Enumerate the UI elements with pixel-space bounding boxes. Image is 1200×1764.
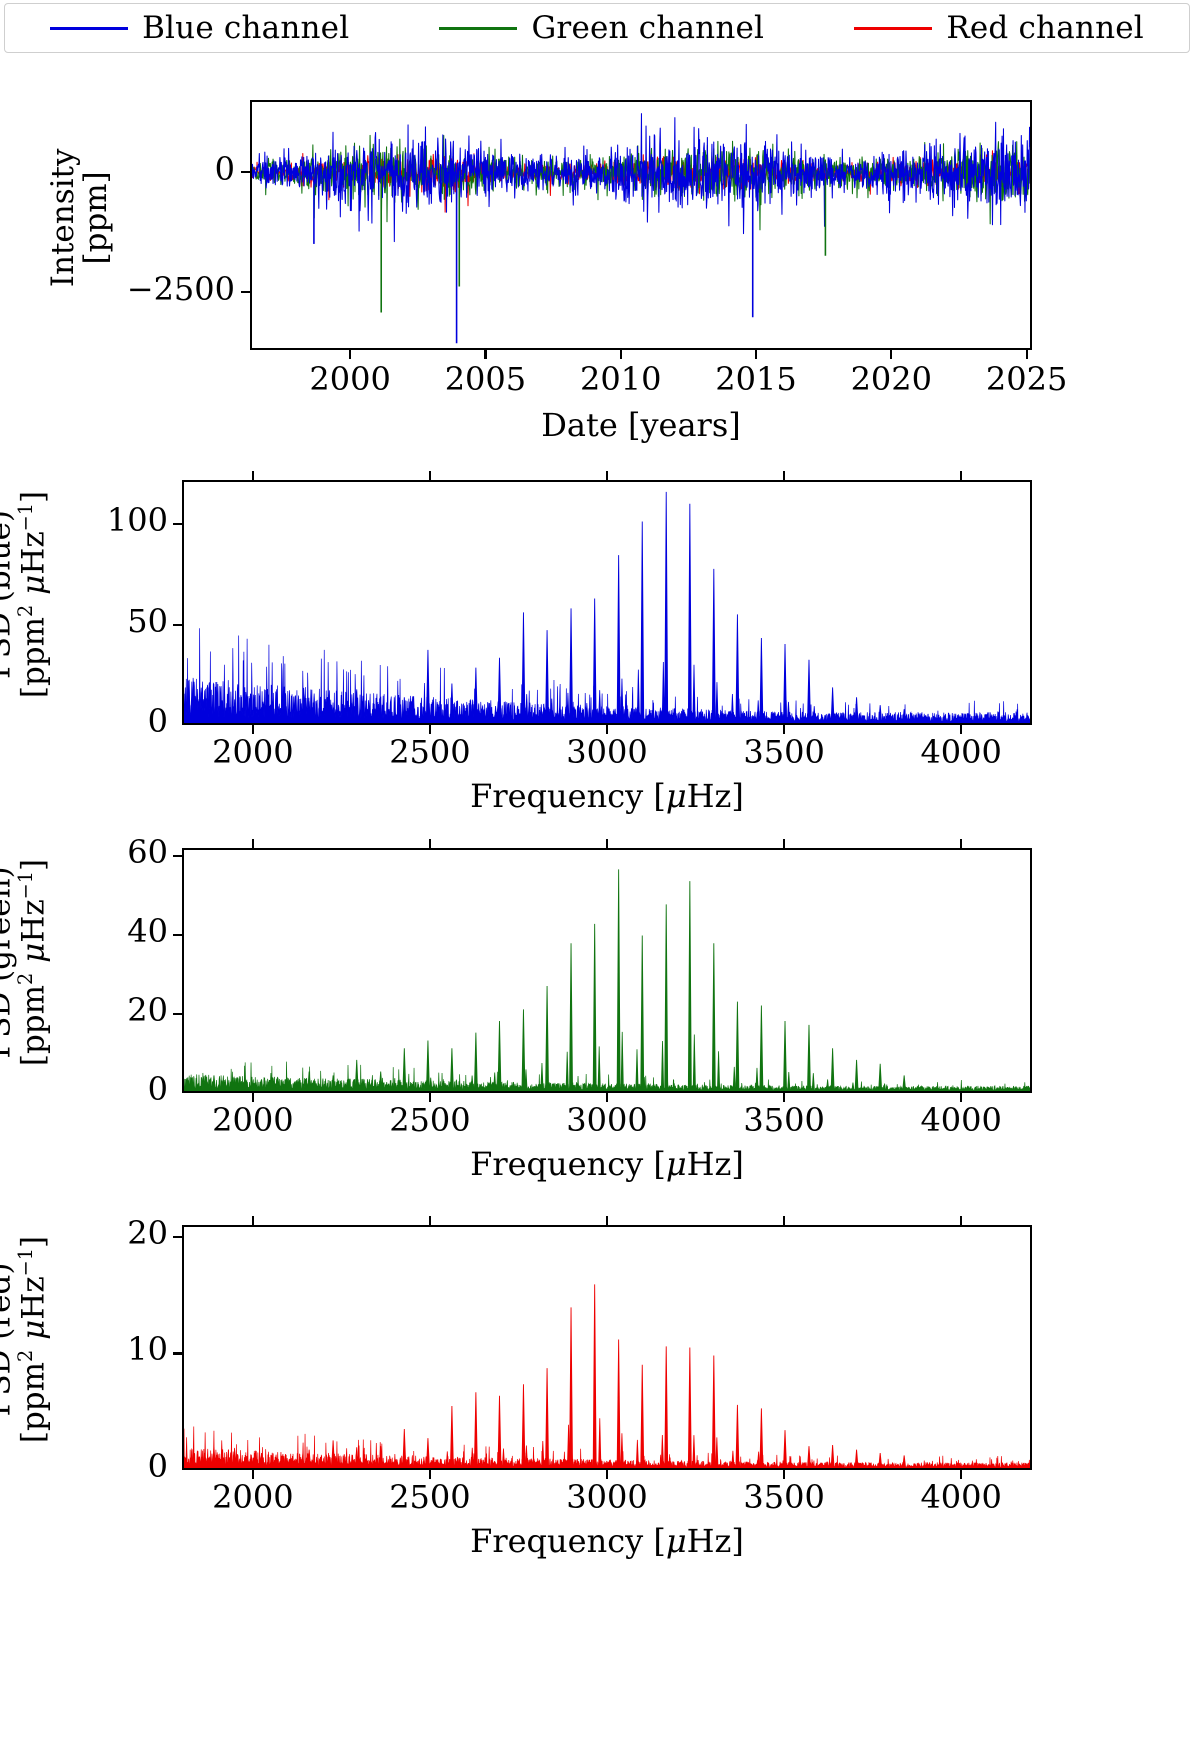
psd_green-x-tick-top	[606, 839, 608, 848]
psd-red-canvas	[184, 1227, 1030, 1468]
psd_green-x-tick-top	[783, 839, 785, 848]
psd_green-x-tick-label: 4000	[891, 1101, 1031, 1139]
psd-green-plot-area	[182, 848, 1032, 1093]
legend-label-green: Green channel	[531, 10, 764, 46]
figure-canvas: Blue channel Green channel Red channel I…	[0, 0, 1200, 1764]
timeseries-x-axis-label: Date [years]	[250, 406, 1032, 444]
psd_blue-x-tick-label: 4000	[891, 733, 1031, 771]
timeseries-x-tick	[349, 350, 351, 359]
timeseries-x-tick-label: 2010	[561, 360, 681, 398]
legend-item-red: Red channel	[854, 10, 1144, 46]
psd_blue-x-tick-top	[606, 471, 608, 480]
psd-blue-canvas	[184, 482, 1030, 723]
timeseries-x-tick-label: 2020	[831, 360, 951, 398]
psd_green-y-tick	[173, 1013, 182, 1015]
timeseries-y-tick	[241, 291, 250, 293]
psd-blue-plot-area	[182, 480, 1032, 725]
timeseries-x-tick-label: 2005	[425, 360, 545, 398]
psd_blue-x-tick-label: 3500	[714, 733, 854, 771]
timeseries-x-tick	[755, 350, 757, 359]
legend-label-red: Red channel	[946, 10, 1144, 46]
timeseries-plot-area	[250, 100, 1032, 350]
psd_green-x-tick-label: 3000	[537, 1101, 677, 1139]
legend: Blue channel Green channel Red channel	[4, 3, 1190, 53]
timeseries-y-axis-label: Intensity [ppm]	[47, 58, 113, 378]
legend-line-green-icon	[439, 27, 517, 30]
psd_green-y-tick-label: 40	[0, 912, 168, 950]
psd_blue-y-tick	[173, 624, 182, 626]
psd_blue-y-tick-label: 50	[0, 602, 168, 640]
psd_blue-x-tick-top	[429, 471, 431, 480]
psd_green-y-tick-label: 0	[0, 1070, 168, 1108]
psd_green-y-tick-label: 20	[0, 991, 168, 1029]
psd-red-plot-area	[182, 1225, 1032, 1470]
timeseries-y-tick-label: 0	[35, 150, 235, 188]
psd-blue-x-axis-label: Frequency [μHz]	[182, 777, 1032, 815]
timeseries-canvas	[252, 102, 1030, 348]
panel-psd-green: PSD (green) [ppm2 μHz−1] Frequency [μHz]…	[0, 820, 1200, 1190]
psd_green-y-tick	[173, 855, 182, 857]
psd_green-x-tick-label: 2000	[183, 1101, 323, 1139]
psd_red-x-tick-top	[783, 1216, 785, 1225]
psd_red-y-tick-label: 10	[0, 1330, 168, 1368]
panel-psd-blue: PSD (blue) [ppm2 μHz−1] Frequency [μHz] …	[0, 440, 1200, 810]
psd_blue-y-tick-label: 100	[0, 501, 168, 539]
psd_blue-x-tick-top	[252, 471, 254, 480]
psd_red-x-tick-top	[606, 1216, 608, 1225]
legend-item-blue: Blue channel	[50, 10, 349, 46]
psd_blue-x-tick-label: 2500	[360, 733, 500, 771]
timeseries-y-tick-label: −2500	[35, 270, 235, 308]
psd_green-x-tick-label: 2500	[360, 1101, 500, 1139]
psd_red-x-tick-label: 3000	[537, 1478, 677, 1516]
timeseries-y-tick	[241, 171, 250, 173]
psd_blue-x-tick-label: 2000	[183, 733, 323, 771]
psd_red-y-tick-label: 0	[0, 1447, 168, 1485]
psd_green-y-tick-label: 60	[0, 833, 168, 871]
psd_green-x-tick-top	[429, 839, 431, 848]
psd_blue-x-tick-top	[960, 471, 962, 480]
psd_red-y-tick	[173, 1352, 182, 1354]
psd_red-x-tick-label: 4000	[891, 1478, 1031, 1516]
legend-line-red-icon	[854, 27, 932, 30]
timeseries-x-tick-label: 2000	[290, 360, 410, 398]
timeseries-x-tick	[1026, 350, 1028, 359]
psd_blue-y-tick	[173, 523, 182, 525]
timeseries-x-tick	[484, 350, 486, 359]
psd_red-x-tick-label: 3500	[714, 1478, 854, 1516]
legend-line-blue-icon	[50, 27, 128, 30]
psd_green-y-tick	[173, 934, 182, 936]
psd_red-x-tick-top	[252, 1216, 254, 1225]
psd_blue-x-tick-label: 3000	[537, 733, 677, 771]
psd_red-y-tick-label: 20	[0, 1214, 168, 1252]
panel-timeseries: Intensity [ppm] Date [years] 20002005201…	[0, 60, 1200, 430]
timeseries-x-tick	[620, 350, 622, 359]
psd_green-x-tick-top	[252, 839, 254, 848]
timeseries-x-tick	[890, 350, 892, 359]
psd-green-canvas	[184, 850, 1030, 1091]
legend-item-green: Green channel	[439, 10, 764, 46]
psd_blue-x-tick-top	[783, 471, 785, 480]
timeseries-x-tick-label: 2015	[696, 360, 816, 398]
psd_red-y-tick	[173, 1236, 182, 1238]
psd_red-x-tick-top	[960, 1216, 962, 1225]
psd_red-x-tick-label: 2500	[360, 1478, 500, 1516]
panel-psd-red: PSD (red) [ppm2 μHz−1] Frequency [μHz] 2…	[0, 1190, 1200, 1564]
psd_green-x-tick-top	[960, 839, 962, 848]
psd-red-x-axis-label: Frequency [μHz]	[182, 1522, 1032, 1560]
psd-green-x-axis-label: Frequency [μHz]	[182, 1145, 1032, 1183]
psd_red-x-tick-label: 2000	[183, 1478, 323, 1516]
timeseries-x-tick-label: 2025	[967, 360, 1087, 398]
psd_green-x-tick-label: 3500	[714, 1101, 854, 1139]
psd_blue-y-tick-label: 0	[0, 702, 168, 740]
psd_red-x-tick-top	[429, 1216, 431, 1225]
legend-label-blue: Blue channel	[142, 10, 349, 46]
